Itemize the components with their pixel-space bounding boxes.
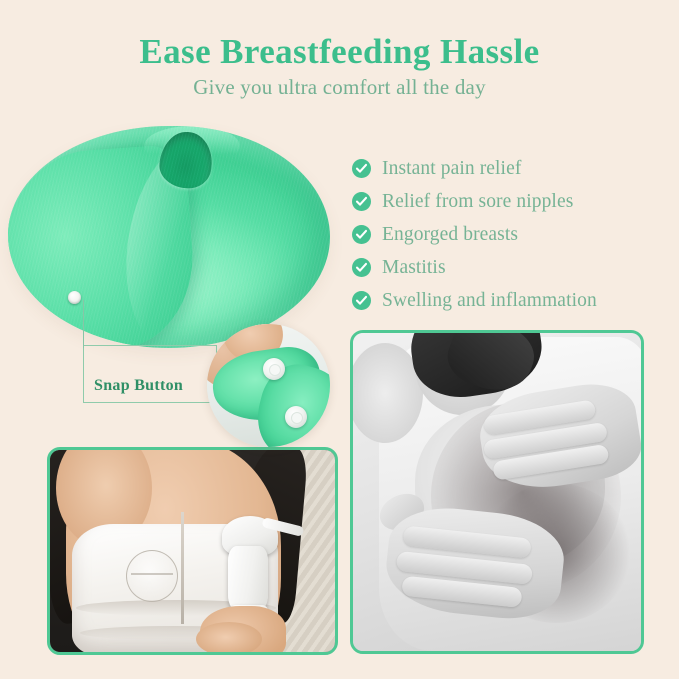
feature-item: Swelling and inflammation	[352, 284, 672, 317]
infographic-canvas: Ease Breastfeeding Hassle Give you ultra…	[0, 0, 679, 679]
check-circle-icon	[352, 159, 371, 178]
check-circle-icon	[352, 258, 371, 277]
feature-item: Instant pain relief	[352, 152, 672, 185]
check-circle-icon	[352, 192, 371, 211]
snap-button-upper	[263, 358, 285, 380]
feature-item: Engorged breasts	[352, 218, 672, 251]
pump-body	[228, 546, 268, 612]
feature-label: Swelling and inflammation	[382, 290, 597, 312]
feature-label: Engorged breasts	[382, 224, 518, 246]
photo-nursing-bra-pump	[47, 447, 338, 655]
snap-button-on-pad	[68, 291, 81, 304]
feature-item: Mastitis	[352, 251, 672, 284]
snap-button-lower	[285, 406, 307, 428]
feature-list: Instant pain relief Relief from sore nip…	[352, 152, 672, 317]
bra-center-seam	[181, 512, 184, 624]
feature-label: Instant pain relief	[382, 158, 521, 180]
photo-breast-pain	[350, 330, 644, 654]
bra-pump-opening	[126, 550, 178, 602]
plush-breast-pad	[8, 126, 330, 348]
page-subtitle: Give you ultra comfort all the day	[0, 77, 679, 98]
snap-button-label: Snap Button	[90, 378, 187, 394]
feature-label: Relief from sore nipples	[382, 191, 573, 213]
check-circle-icon	[352, 225, 371, 244]
feature-item: Relief from sore nipples	[352, 185, 672, 218]
page-title: Ease Breastfeeding Hassle	[0, 34, 679, 69]
snap-button-closeup-inset	[207, 324, 330, 447]
model-fingers	[196, 622, 262, 655]
check-circle-icon	[352, 291, 371, 310]
callout-leader-line	[83, 300, 84, 348]
feature-label: Mastitis	[382, 257, 446, 279]
callout-bracket	[83, 345, 217, 403]
pad-plush-texture	[8, 126, 330, 348]
